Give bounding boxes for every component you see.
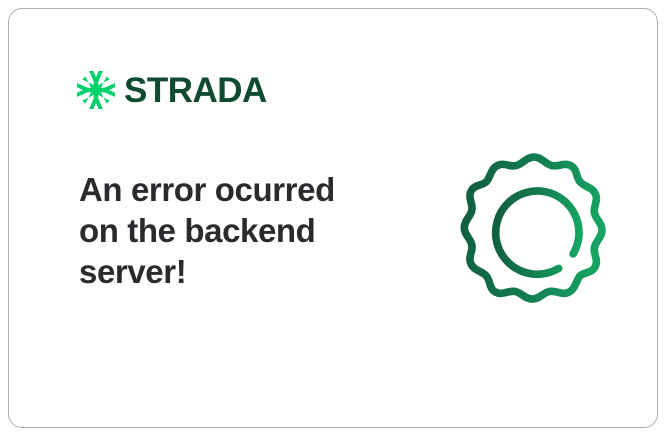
strada-starburst-icon [77, 71, 115, 109]
gear-illustration [449, 146, 619, 316]
error-message-line: server! [79, 251, 379, 292]
error-card: STRADA An error ocurred on the backend s… [8, 8, 658, 428]
error-message: An error ocurred on the backend server! [79, 169, 379, 292]
error-message-line: An error ocurred [79, 169, 379, 210]
error-message-line: on the backend [79, 210, 379, 251]
gear-icon [449, 146, 619, 316]
brand-wordmark: STRADA [124, 73, 267, 108]
brand-logo: STRADA [77, 67, 267, 113]
